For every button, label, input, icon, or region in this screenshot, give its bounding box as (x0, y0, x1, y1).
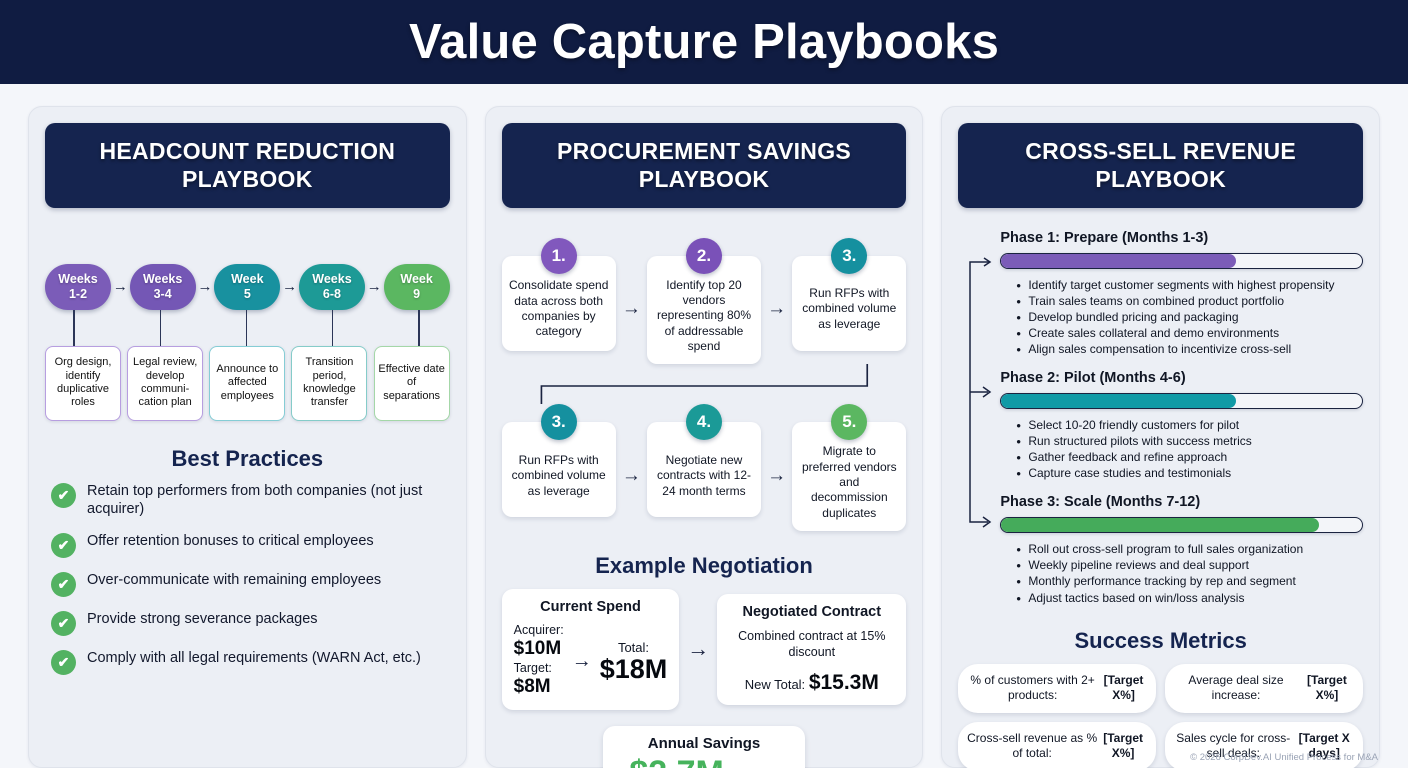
pill-line-1: Weeks (58, 272, 97, 287)
phase-progress-bar[interactable] (1000, 517, 1363, 533)
step-cell[interactable]: 2.Identify top 20 vendors representing 8… (647, 238, 761, 365)
timeline-arrow-icon: → (282, 278, 297, 295)
step-number-badge: 2. (686, 238, 722, 274)
panel-cross-sell-revenue: CROSS-SELL REVENUE PLAYBOOK Phase 1: Pre… (941, 106, 1380, 768)
negotiation-arrow-icon: → (687, 636, 709, 662)
current-spend-card: Current Spend Acquirer: $10M Target: $8M… (502, 589, 680, 709)
phase-list: Phase 1: Prepare (Months 1-3)Identify ta… (1000, 230, 1363, 606)
total-value: $18M (600, 655, 668, 683)
timeline-stem (160, 310, 162, 346)
step-cell[interactable]: 1.Consolidate spend data across both com… (502, 238, 616, 365)
pill-line-2: 1-2 (69, 287, 87, 302)
phase-bullet-list: Roll out cross-sell program to full sale… (1016, 541, 1363, 605)
new-total-value: $15.3M (809, 671, 879, 694)
panel-procurement-savings: PROCUREMENT SAVINGS PLAYBOOK 1.Consolida… (485, 106, 924, 768)
check-circle-icon: ✔ (51, 611, 76, 636)
annual-savings-card: Annual Savings $2.7M annually (603, 726, 804, 768)
phase-bullet-item: Align sales compensation to incentivize … (1016, 341, 1363, 357)
step-number-badge: 3. (541, 404, 577, 440)
step-number-badge: 4. (686, 404, 722, 440)
timeline-arrow-icon: → (113, 278, 128, 295)
panel-headcount-reduction: HEADCOUNT REDUCTION PLAYBOOK Weeks1-2→We… (28, 106, 467, 768)
copyright-footer: © 2026 CorpDev.AI Unified Process for M&… (1190, 752, 1378, 763)
phase-bullet-item: Train sales teams on combined product po… (1016, 293, 1363, 309)
best-practice-item: ✔Comply with all legal requirements (WAR… (51, 649, 444, 675)
check-circle-icon: ✔ (51, 572, 76, 597)
timeline-detail-row: Org design, identify duplicative rolesLe… (45, 346, 450, 421)
headcount-timeline: Weeks1-2→Weeks3-4→Week5→Weeks6-8→Week9 O… (45, 264, 450, 424)
sum-arrow-icon: → (572, 650, 592, 673)
phase-bullet-list: Identify target customer segments with h… (1016, 277, 1363, 357)
best-practices-list: ✔Retain top performers from both compani… (45, 482, 450, 675)
wrap-connector-icon (502, 364, 907, 404)
phase-bullet-item: Roll out cross-sell program to full sale… (1016, 541, 1363, 557)
step-cell[interactable]: 3.Run RFPs with combined volume as lever… (502, 404, 616, 531)
step-number-badge: 1. (541, 238, 577, 274)
pill-line-2: 5 (244, 287, 251, 302)
page-header: Value Capture Playbooks (0, 0, 1408, 84)
pill-line-2: 6-8 (323, 287, 341, 302)
timeline-pill[interactable]: Week9 (384, 264, 450, 310)
negotiated-heading: Negotiated Contract (729, 604, 894, 620)
best-practice-item: ✔Offer retention bonuses to critical emp… (51, 532, 444, 558)
best-practice-item: ✔Provide strong severance packages (51, 610, 444, 636)
phase-bullet-item: Gather feedback and refine approach (1016, 449, 1363, 465)
timeline-detail-box[interactable]: Announce to affected employees (209, 346, 285, 421)
pill-line-2: 3-4 (154, 287, 172, 302)
total-label: Total: (600, 640, 668, 655)
negotiated-contract-card: Negotiated Contract Combined contract at… (717, 594, 906, 705)
negotiation-row: Current Spend Acquirer: $10M Target: $8M… (502, 589, 907, 709)
phase-progress-fill (1001, 394, 1235, 408)
phase-bracket-icon (964, 256, 998, 528)
timeline-arrow-icon: → (197, 278, 212, 295)
timeline-pill[interactable]: Weeks6-8 (299, 264, 365, 310)
timeline-stems (45, 310, 450, 346)
annual-savings-heading: Annual Savings (629, 735, 778, 752)
check-circle-icon: ✔ (51, 483, 76, 508)
metric-target: [Target X%] (1099, 673, 1148, 704)
step-arrow-icon: → (767, 449, 786, 487)
panel-title-headcount: HEADCOUNT REDUCTION PLAYBOOK (45, 123, 450, 208)
current-spend-total: Total: $18M (600, 640, 668, 683)
step-number-badge: 5. (831, 404, 867, 440)
procurement-steps: 1.Consolidate spend data across both com… (502, 238, 907, 532)
pill-line-1: Weeks (312, 272, 351, 287)
phase-bullet-list: Select 10-20 friendly customers for pilo… (1016, 417, 1363, 481)
phase-bullet-item: Develop bundled pricing and packaging (1016, 309, 1363, 325)
timeline-stem (418, 310, 420, 346)
phase-progress-bar[interactable] (1000, 253, 1363, 269)
step-wrap-connector (502, 364, 907, 404)
phase-bullet-item: Adjust tactics based on win/loss analysi… (1016, 590, 1363, 606)
best-practice-text: Retain top performers from both companie… (87, 482, 444, 519)
metric-label: Average deal size increase: (1173, 673, 1299, 704)
timeline-arrow-icon: → (367, 278, 382, 295)
phase-heading: Phase 2: Pilot (Months 4-6) (1000, 370, 1363, 386)
best-practice-text: Provide strong severance packages (87, 610, 318, 629)
step-cell[interactable]: 5.Migrate to preferred vendors and decom… (792, 404, 906, 531)
pill-line-1: Weeks (143, 272, 182, 287)
page-title: Value Capture Playbooks (409, 14, 999, 70)
metric-target: [Target X%] (1098, 731, 1148, 762)
pill-line-1: Week (400, 272, 432, 287)
annual-savings-value-row: $2.7M annually (629, 754, 778, 768)
best-practice-text: Offer retention bonuses to critical empl… (87, 532, 374, 551)
step-arrow-icon: → (622, 449, 641, 487)
negotiation-title: Example Negotiation (502, 553, 907, 579)
step-cell[interactable]: 3.Run RFPs with combined volume as lever… (792, 238, 906, 365)
panel-title-crosssell: CROSS-SELL REVENUE PLAYBOOK (958, 123, 1363, 208)
metric-label: Cross-sell revenue as % of total: (966, 731, 1098, 762)
phase-bullet-item: Create sales collateral and demo environ… (1016, 325, 1363, 341)
phase-bullet-item: Identify target customer segments with h… (1016, 277, 1363, 293)
acquirer-label: Acquirer: (514, 623, 564, 637)
phase-bullet-item: Select 10-20 friendly customers for pilo… (1016, 417, 1363, 433)
playbook-panels: HEADCOUNT REDUCTION PLAYBOOK Weeks1-2→We… (0, 84, 1408, 768)
current-spend-breakdown: Acquirer: $10M Target: $8M (514, 623, 564, 699)
timeline-pill[interactable]: Weeks1-2 (45, 264, 111, 310)
negotiated-body: Combined contract at 15% discount (729, 628, 894, 661)
pill-line-2: 9 (413, 287, 420, 302)
new-total-row: New Total: $15.3M (729, 671, 894, 695)
annual-savings-value: $2.7M (629, 754, 724, 768)
step-number-badge: 3. (831, 238, 867, 274)
phase-bullet-item: Weekly pipeline reviews and deal support (1016, 557, 1363, 573)
best-practice-text: Comply with all legal requirements (WARN… (87, 649, 421, 668)
timeline-stem (73, 310, 75, 346)
phase-progress-bar[interactable] (1000, 393, 1363, 409)
acquirer-value: $10M (514, 638, 564, 660)
success-metrics-title: Success Metrics (958, 628, 1363, 654)
step-row-bottom: 3.Run RFPs with combined volume as lever… (502, 404, 907, 531)
infographic-root: Value Capture Playbooks HEADCOUNT REDUCT… (0, 0, 1408, 768)
current-spend-heading: Current Spend (514, 599, 668, 615)
new-total-label: New Total: (745, 677, 805, 692)
success-metric-chip[interactable]: Average deal size increase: [Target X%] (1165, 664, 1363, 713)
step-arrow-icon: → (622, 282, 641, 320)
timeline-detail-box[interactable]: Org design, identify duplicative roles (45, 346, 121, 421)
timeline-pill[interactable]: Weeks3-4 (130, 264, 196, 310)
phase-progress-fill (1001, 518, 1318, 532)
metric-label: % of customers with 2+ products: (966, 673, 1099, 704)
step-arrow-icon: → (767, 282, 786, 320)
best-practice-item: ✔Retain top performers from both compani… (51, 482, 444, 519)
panel-title-procurement: PROCUREMENT SAVINGS PLAYBOOK (502, 123, 907, 208)
metric-target: [Target X%] (1299, 673, 1355, 704)
phase-bullet-item: Capture case studies and testimonials (1016, 465, 1363, 481)
target-value: $8M (514, 676, 564, 698)
step-cell[interactable]: 4.Negotiate new contracts with 12-24 mon… (647, 404, 761, 531)
best-practice-text: Over-communicate with remaining employee… (87, 571, 381, 590)
success-metric-chip[interactable]: % of customers with 2+ products: [Target… (958, 664, 1156, 713)
best-practice-item: ✔Over-communicate with remaining employe… (51, 571, 444, 597)
timeline-detail-box[interactable]: Legal review, develop communi-cation pla… (127, 346, 203, 421)
step-row-top: 1.Consolidate spend data across both com… (502, 238, 907, 365)
phase-heading: Phase 1: Prepare (Months 1-3) (1000, 230, 1363, 246)
phase-heading: Phase 3: Scale (Months 7-12) (1000, 494, 1363, 510)
timeline-stem (246, 310, 248, 346)
success-metric-chip[interactable]: Cross-sell revenue as % of total: [Targe… (958, 722, 1156, 768)
timeline-pill-row: Weeks1-2→Weeks3-4→Week5→Weeks6-8→Week9 (45, 264, 450, 310)
pill-line-1: Week (231, 272, 263, 287)
timeline-detail-box[interactable]: Transition period, knowledge transfer (291, 346, 367, 421)
timeline-stem (332, 310, 334, 346)
phase-bullet-item: Monthly performance tracking by rep and … (1016, 573, 1363, 589)
crosssell-phases: Phase 1: Prepare (Months 1-3)Identify ta… (958, 230, 1363, 606)
best-practices-title: Best Practices (45, 446, 450, 472)
phase-bullet-item: Run structured pilots with success metri… (1016, 433, 1363, 449)
phase-progress-fill (1001, 254, 1235, 268)
target-label: Target: (514, 661, 564, 675)
check-circle-icon: ✔ (51, 650, 76, 675)
check-circle-icon: ✔ (51, 533, 76, 558)
timeline-detail-box[interactable]: Effective date of separations (374, 346, 450, 421)
timeline-pill[interactable]: Week5 (214, 264, 280, 310)
